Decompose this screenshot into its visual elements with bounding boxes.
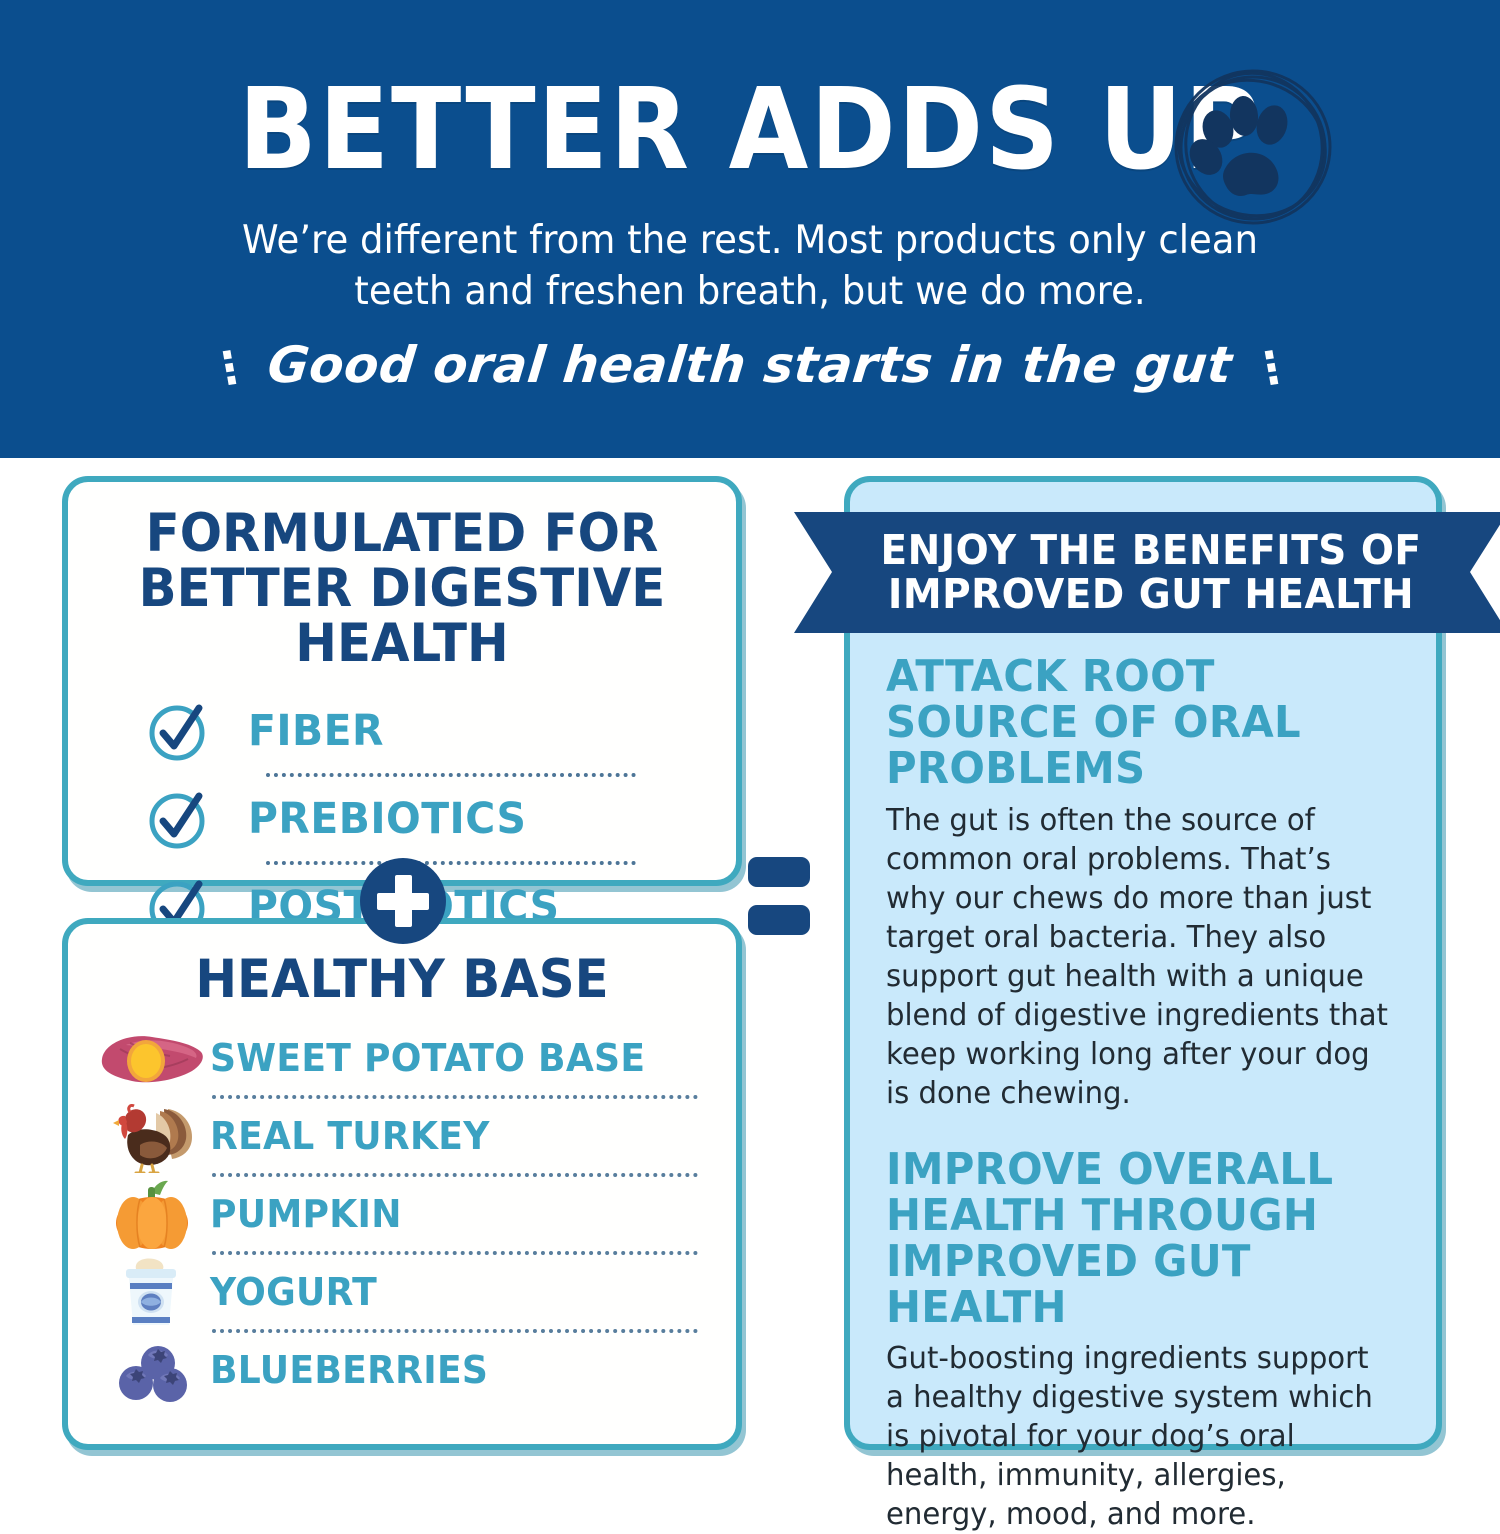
ribbon-text: ENJOY THE BENEFITS OF IMPROVED GUT HEALT…: [812, 512, 1490, 633]
tagline-text: Good oral health starts in the gut: [265, 336, 1235, 394]
list-item: YOGURT: [90, 1255, 716, 1329]
list-item-label: BLUEBERRIES: [210, 1348, 488, 1392]
list-item-label: SWEET POTATO BASE: [210, 1036, 645, 1080]
check-circle-icon: [146, 788, 208, 850]
ribbon-line-1: ENJOY THE BENEFITS OF: [881, 529, 1422, 573]
divider-dotted: [212, 1095, 698, 1099]
divider-dotted: [266, 773, 636, 777]
paw-print-icon: [1168, 62, 1338, 232]
benefit-body: Gut-boosting ingredients support a healt…: [886, 1339, 1392, 1534]
list-item-label: REAL TURKEY: [210, 1114, 490, 1158]
benefits-ribbon: ENJOY THE BENEFITS OF IMPROVED GUT HEALT…: [794, 512, 1500, 633]
yogurt-cup-icon: [90, 1255, 210, 1329]
ingredient-list: SWEET POTATO BASE: [68, 1021, 736, 1407]
list-item: SWEET POTATO BASE: [90, 1021, 716, 1095]
benefit-heading: IMPROVE OVERALL HEALTH THROUGH IMPROVED …: [886, 1147, 1382, 1332]
list-item: BLUEBERRIES: [90, 1333, 716, 1407]
sweet-potato-icon: [90, 1021, 210, 1095]
healthy-base-card-title: HEALTHY BASE: [88, 952, 716, 1007]
tagline-mark-right: ⋮: [1245, 340, 1295, 396]
pumpkin-icon: [90, 1177, 210, 1251]
blueberries-icon: [90, 1333, 210, 1407]
divider-dotted: [266, 861, 636, 865]
list-item-label: YOGURT: [210, 1270, 377, 1314]
formulated-card-title: FORMULATED FOR BETTER DIGESTIVE HEALTH: [88, 506, 716, 671]
check-circle-icon: [146, 700, 208, 762]
benefits-content: ATTACK ROOT SOURCE OF ORAL PROBLEMS The …: [886, 654, 1408, 1534]
turkey-icon: [90, 1099, 210, 1173]
list-item: REAL TURKEY: [90, 1099, 716, 1173]
benefit-heading: ATTACK ROOT SOURCE OF ORAL PROBLEMS: [886, 654, 1382, 793]
list-item: FIBER: [146, 689, 710, 773]
formulated-card: FORMULATED FOR BETTER DIGESTIVE HEALTH F…: [62, 476, 742, 886]
header-subtitle: We’re different from the rest. Most prod…: [218, 216, 1282, 317]
divider-dotted: [212, 1251, 698, 1255]
tagline-mark-left: ⋮: [204, 340, 254, 396]
plus-icon: [360, 858, 446, 944]
list-item: PUMPKIN: [90, 1177, 716, 1251]
list-item-label: PUMPKIN: [210, 1192, 402, 1236]
divider-dotted: [212, 1173, 698, 1177]
header-tagline: ⋮ Good oral health starts in the gut ⋮: [0, 336, 1500, 394]
list-item: PREBIOTICS: [146, 777, 710, 861]
list-item-label: PREBIOTICS: [248, 794, 526, 844]
divider-dotted: [212, 1329, 698, 1333]
ribbon-line-2: IMPROVED GUT HEALTH: [888, 573, 1414, 617]
healthy-base-card: HEALTHY BASE SWEET POTATO BASE: [62, 918, 742, 1450]
list-item-label: FIBER: [248, 706, 384, 756]
header-banner: BETTER ADDS UP We’re different from the …: [0, 0, 1500, 458]
benefit-body: The gut is often the source of common or…: [886, 801, 1392, 1113]
equals-icon: [748, 857, 810, 945]
